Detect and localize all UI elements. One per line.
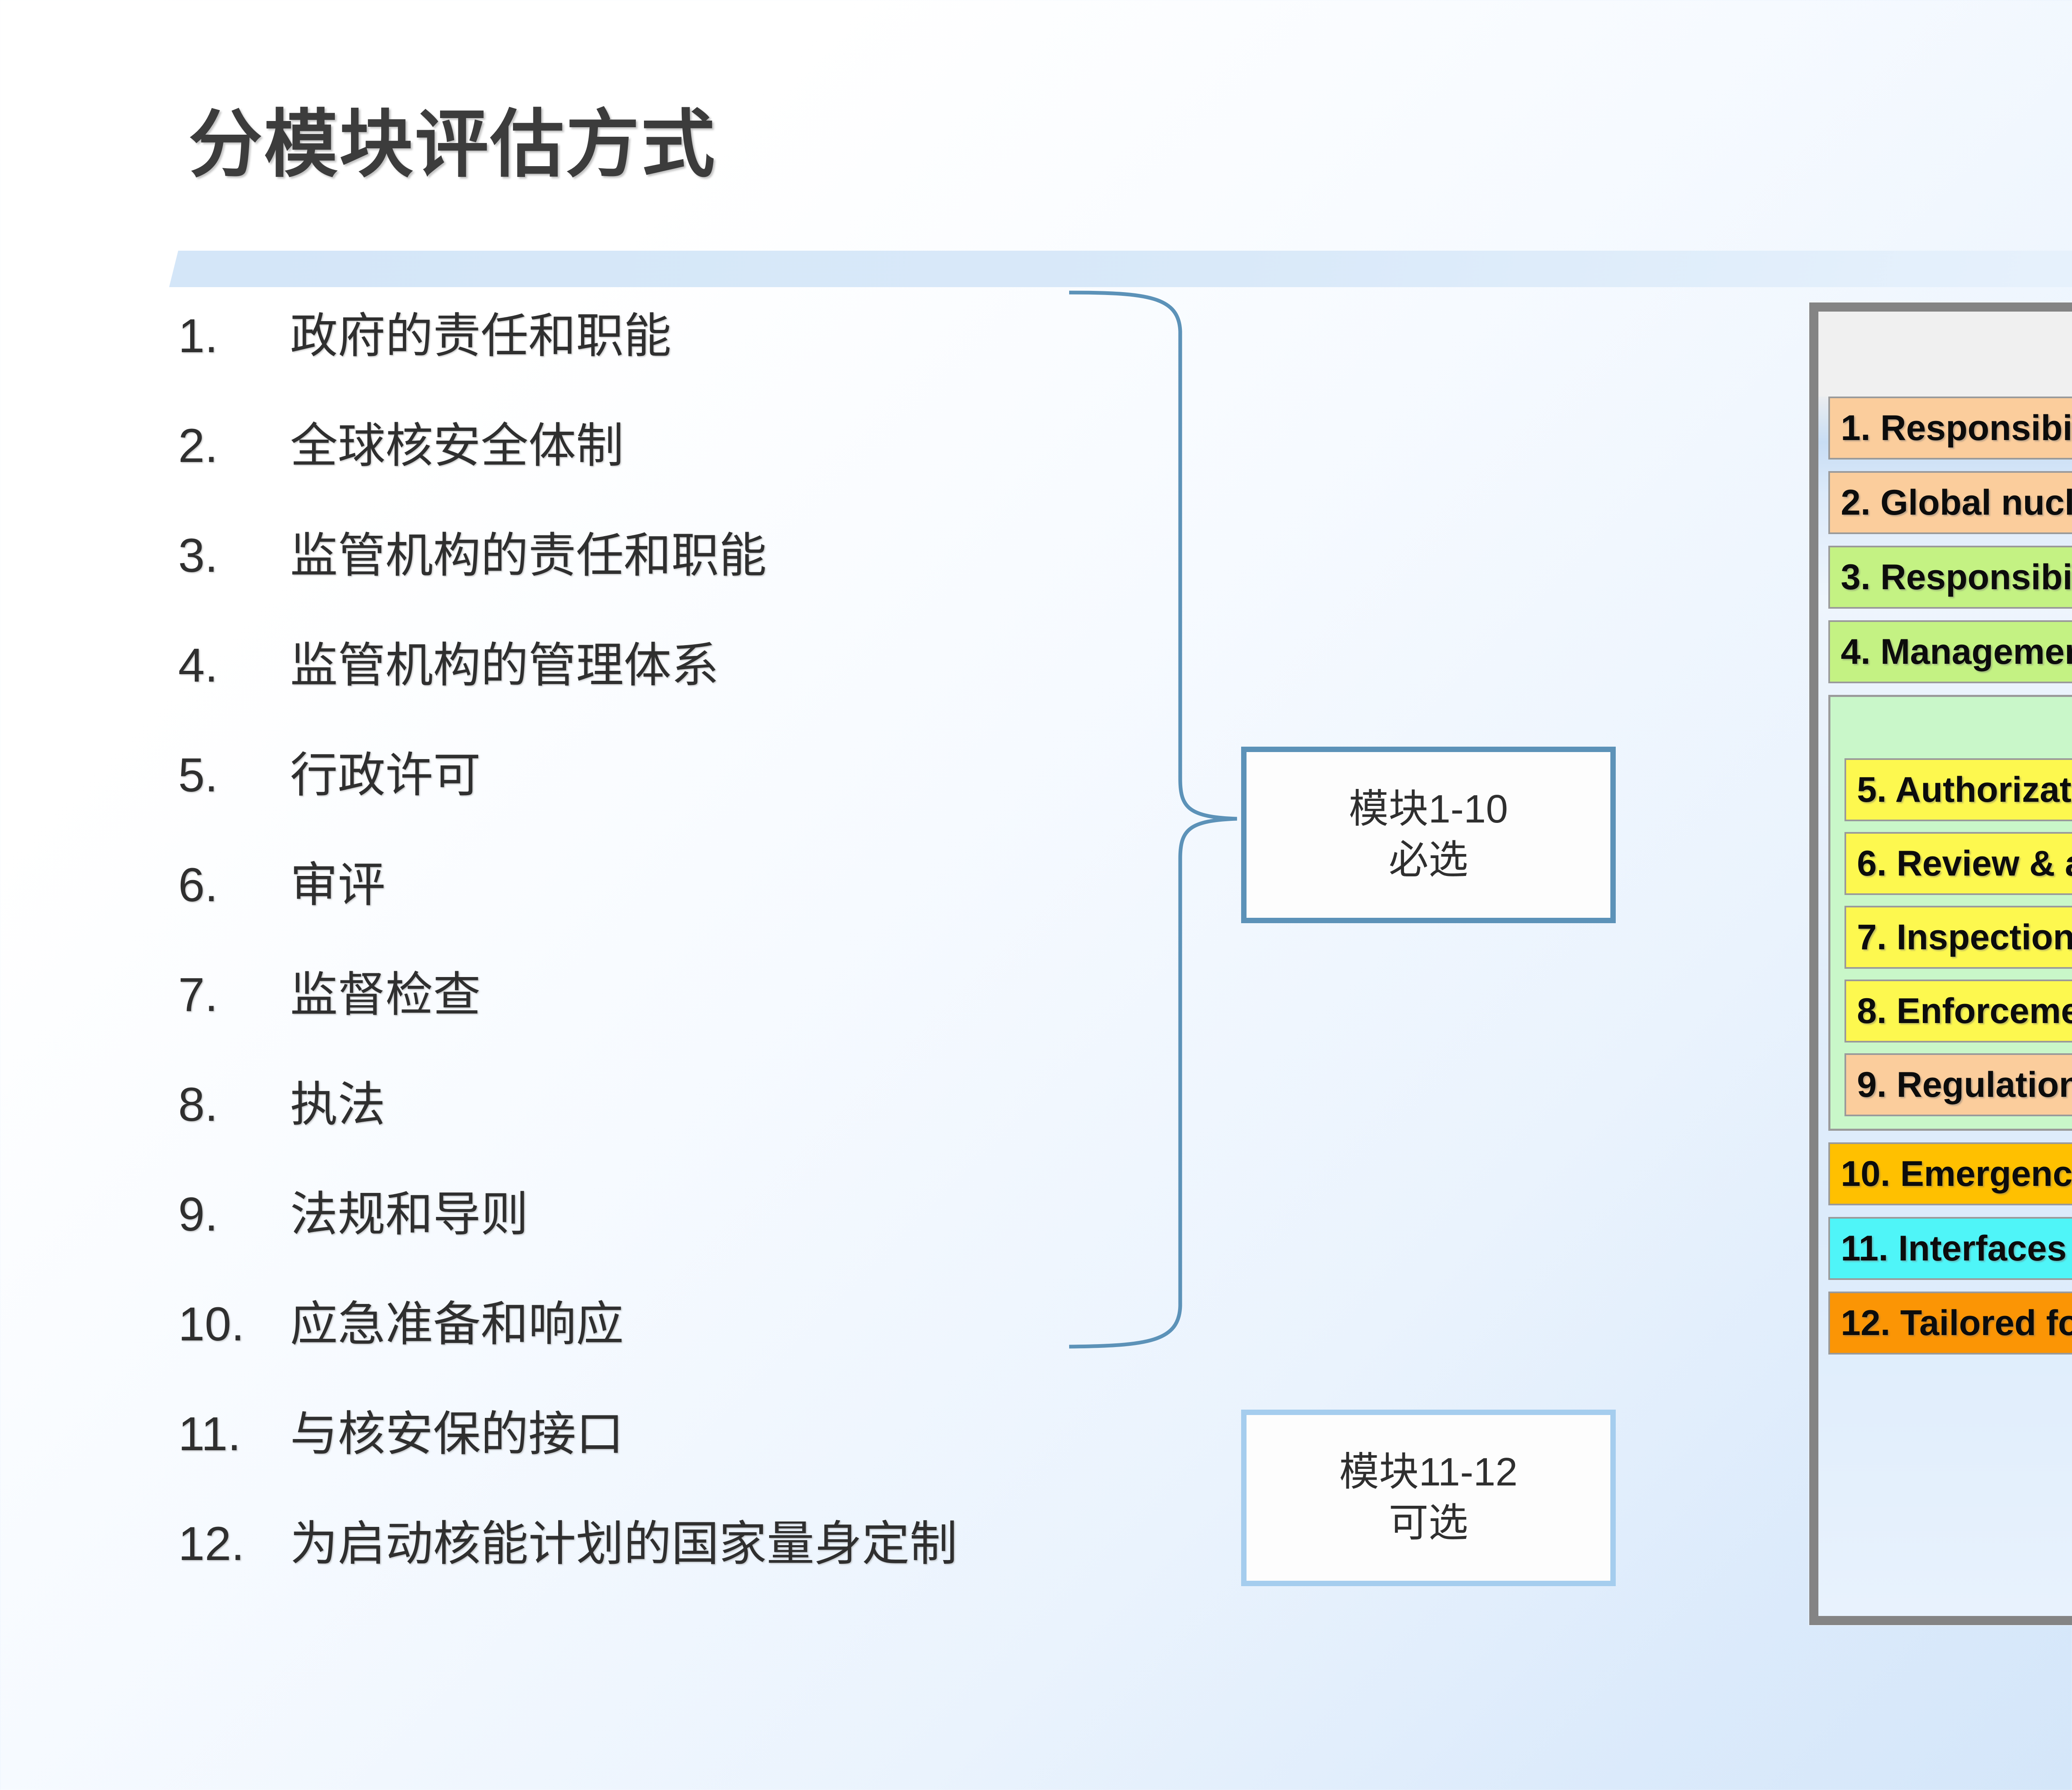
module-row: 11. Interfaces with nuclear security: [1828, 1217, 2072, 1280]
callout-required-modules: 模块1-10 必选: [1241, 747, 1616, 923]
list-item: 8.执法: [178, 1066, 1082, 1176]
list-item-number: 6.: [178, 858, 290, 912]
list-item: 11.与核安保的接口: [178, 1396, 1082, 1505]
list-item: 6.审评: [178, 847, 1082, 956]
callout-required-line1: 模块1-10: [1349, 784, 1508, 835]
list-item-label: 政府的责任和职能: [290, 298, 671, 366]
callout-required-line2: 必选: [1389, 835, 1468, 886]
core-group-title: Core regulatory processes: [1844, 697, 2072, 758]
list-item-number: 11.: [178, 1407, 290, 1461]
diagram-rows-top: 1. Responsibilities and functions of the…: [1828, 397, 2072, 683]
list-item: 4.监管机构的管理体系: [178, 627, 1082, 737]
callout-optional-line1: 模块11-12: [1339, 1447, 1518, 1498]
list-item: 5.行政许可: [178, 737, 1082, 847]
diagram-body: 1. Responsibilities and functions of the…: [1818, 397, 2072, 1355]
module-row: 4. Management system of the regulatory b…: [1828, 620, 2072, 683]
callout-optional-line2: 可选: [1389, 1498, 1468, 1549]
module-row: 1. Responsibilities and functions of the…: [1828, 397, 2072, 460]
brace-modules-1-10: [1065, 290, 1239, 1351]
list-item-label: 全球核安全体制: [290, 407, 624, 476]
module-row: 6. Review & assessment: [1844, 832, 2072, 895]
list-item-number: 3.: [178, 528, 290, 583]
module-row: 3. Responsibilities and functions of the…: [1828, 546, 2072, 609]
list-item-label: 行政许可: [290, 737, 481, 805]
module-list: 1.政府的责任和职能2.全球核安全体制3.监管机构的责任和职能4.监管机构的管理…: [178, 298, 1082, 1615]
list-item-label: 法规和导则: [290, 1176, 528, 1245]
list-item-label: 应急准备和响应: [290, 1286, 624, 1355]
list-item-number: 1.: [178, 309, 290, 363]
list-item-label: 为启动核能计划的国家量身定制: [290, 1505, 957, 1574]
list-item-number: 10.: [178, 1297, 290, 1352]
list-item: 1.政府的责任和职能: [178, 298, 1082, 407]
module-row: 7. Inspection: [1844, 906, 2072, 969]
modules-technical-areas-diagram: MODULES – TECHNICAL AREAS 1. Responsibil…: [1809, 302, 2072, 1625]
core-regulatory-processes-group: Core regulatory processes 5. Authorizati…: [1828, 695, 2072, 1131]
list-item: 3.监管机构的责任和职能: [178, 517, 1082, 627]
list-item-label: 审评: [290, 847, 385, 915]
module-row: 8. Enforcement: [1844, 980, 2072, 1043]
callout-optional-modules: 模块11-12 可选: [1241, 1410, 1616, 1586]
diagram-rows-core: 5. Authorization6. Review & assessment7.…: [1844, 758, 2072, 1116]
list-item-number: 5.: [178, 748, 290, 803]
module-row: 5. Authorization: [1844, 758, 2072, 821]
module-row: 12. Tailored for countries embarking on …: [1828, 1292, 2072, 1355]
list-item: 10.应急准备和响应: [178, 1286, 1082, 1396]
list-item-label: 监管机构的管理体系: [290, 627, 719, 696]
list-item-number: 12.: [178, 1517, 290, 1571]
list-item: 12.为启动核能计划的国家量身定制: [178, 1505, 1082, 1615]
list-item-number: 4.: [178, 638, 290, 693]
list-item: 2.全球核安全体制: [178, 407, 1082, 517]
list-item-label: 监管机构的责任和职能: [290, 517, 767, 586]
list-item: 9.法规和导则: [178, 1176, 1082, 1286]
list-item-label: 执法: [290, 1066, 385, 1135]
diagram-rows-bottom: 10. Emergency preparedness and response1…: [1828, 1142, 2072, 1355]
module-row: 2. Global nuclear safety regime: [1828, 471, 2072, 534]
list-item: 7.监督检查: [178, 956, 1082, 1066]
list-item-number: 7.: [178, 968, 290, 1022]
module-row: 10. Emergency preparedness and response: [1828, 1142, 2072, 1205]
page-title: 分模块评估方式: [189, 85, 716, 191]
list-item-number: 9.: [178, 1187, 290, 1242]
diagram-header-title: MODULES – TECHNICAL AREAS: [1818, 312, 2072, 397]
list-item-label: 与核安保的接口: [290, 1396, 624, 1464]
title-underline-band: [169, 251, 2072, 287]
list-item-label: 监督检查: [290, 956, 481, 1025]
module-row: 9. Regulations & guides: [1844, 1053, 2072, 1116]
list-item-number: 2.: [178, 418, 290, 473]
list-item-number: 8.: [178, 1077, 290, 1132]
